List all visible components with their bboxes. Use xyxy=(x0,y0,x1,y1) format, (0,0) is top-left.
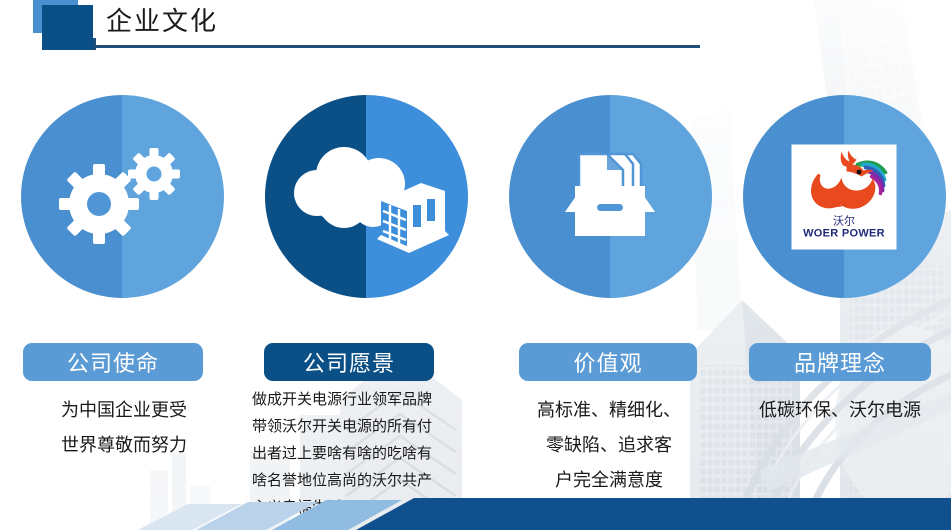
circle-values xyxy=(509,95,712,298)
slide-header: 企业文化 xyxy=(0,0,951,62)
label-pill-vision[interactable]: 公司愿景 xyxy=(264,343,434,381)
culture-column-mission xyxy=(8,95,236,298)
culture-column-vision xyxy=(252,95,480,298)
label-pill-mission[interactable]: 公司使命 xyxy=(23,343,203,381)
circle-mission xyxy=(21,95,224,298)
footer-accent-bar xyxy=(0,470,951,530)
cloud-building-icon xyxy=(265,95,468,298)
page-title: 企业文化 xyxy=(106,3,218,41)
circle-vision xyxy=(265,95,468,298)
circle-icon-wrap-values xyxy=(509,95,712,298)
header-rule-cap xyxy=(93,38,96,50)
body-line: 零缺陷、追求客 xyxy=(514,428,704,463)
body-line: 为中国企业更受 xyxy=(24,393,224,428)
label-pill-brand[interactable]: 品牌理念 xyxy=(749,343,931,381)
header-rule xyxy=(95,45,700,48)
body-line: 出者过上要啥有啥的吃啥有 xyxy=(252,440,448,467)
woer-phoenix-icon xyxy=(794,147,894,217)
body-line: 做成开关电源行业领军品牌 xyxy=(252,386,448,413)
body-text-mission: 为中国企业更受 世界尊敬而努力 xyxy=(24,393,224,463)
body-line: 带领沃尔开关电源的所有付 xyxy=(252,413,448,440)
logo-chinese-text: 沃尔 xyxy=(833,215,855,227)
culture-column-brand: 沃尔 WOER POWER xyxy=(730,95,951,298)
footer-main-bar xyxy=(356,498,951,530)
file-box-icon xyxy=(509,95,712,298)
circle-icon-wrap-vision xyxy=(265,95,468,298)
body-text-brand: 低碳环保、沃尔电源 xyxy=(740,393,940,428)
circle-icon-wrap-mission xyxy=(21,95,224,298)
label-pill-values[interactable]: 价值观 xyxy=(519,343,697,381)
body-line: 世界尊敬而努力 xyxy=(24,428,224,463)
logo-english-text: WOER POWER xyxy=(803,227,885,240)
culture-column-values xyxy=(496,95,724,298)
circle-icon-wrap-brand: 沃尔 WOER POWER xyxy=(743,95,946,298)
woer-power-logo: 沃尔 WOER POWER xyxy=(792,144,897,249)
body-line: 低碳环保、沃尔电源 xyxy=(740,393,940,428)
gears-icon xyxy=(21,95,224,298)
body-line: 高标准、精细化、 xyxy=(514,393,704,428)
slide-canvas: 企业文化 xyxy=(0,0,951,530)
header-square-front-icon xyxy=(42,5,93,50)
